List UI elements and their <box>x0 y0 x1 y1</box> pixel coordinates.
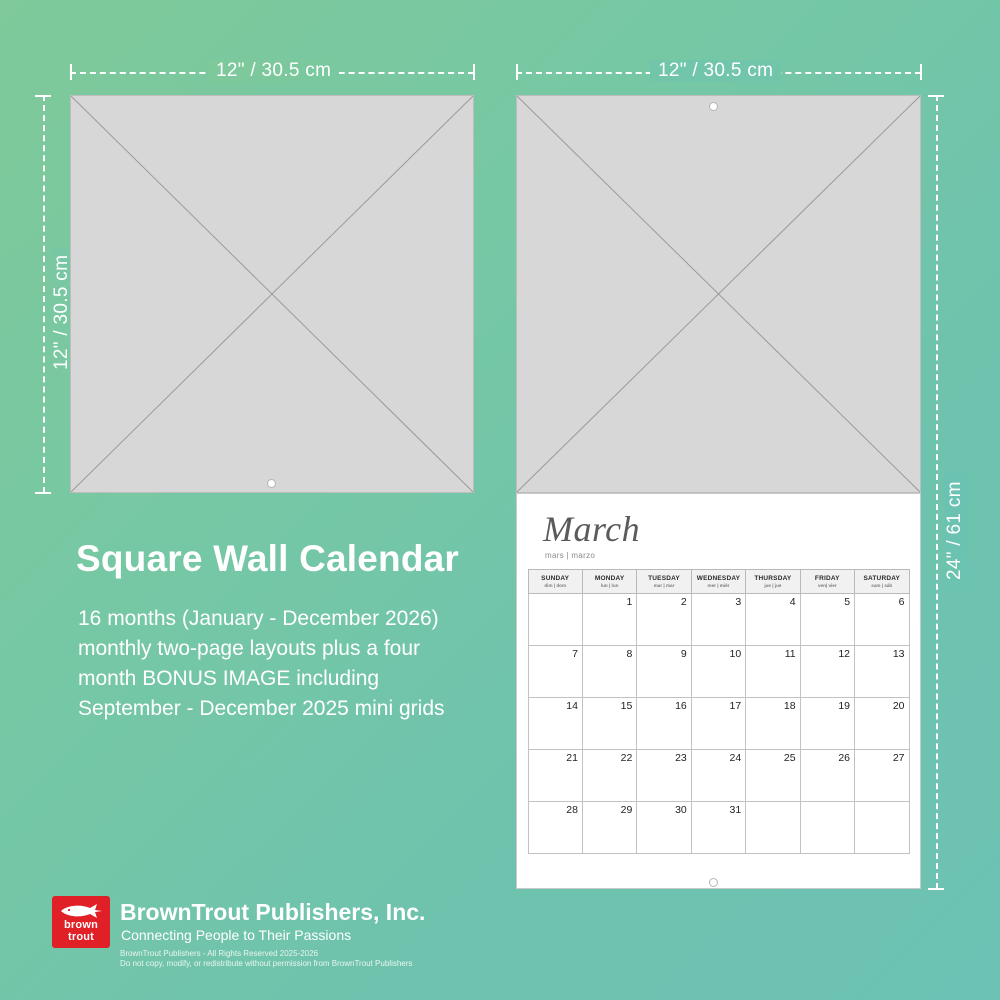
calendar-day-cell: 22 <box>582 750 636 802</box>
calendar-day-cell <box>855 802 909 854</box>
calendar-dow-wednesday: WEDNESDAY mer | miér <box>691 570 745 594</box>
calendar-day-cell: 18 <box>746 698 800 750</box>
dow-label-alt: lun | lun <box>583 583 636 588</box>
dow-label-alt: dim | dom <box>529 583 582 588</box>
browntrout-logo: brown trout <box>52 896 110 948</box>
calendar-day-cell: 12 <box>800 646 854 698</box>
calendar-week-row: 1 2 3 4 5 6 <box>528 594 909 646</box>
calendar-day-cell: 26 <box>800 750 854 802</box>
dow-label-en: FRIDAY <box>801 575 854 582</box>
calendar-day-cell: 29 <box>582 802 636 854</box>
calendar-day-cell <box>746 802 800 854</box>
description-line-2: monthly two-page layouts plus a four <box>78 634 548 664</box>
calendar-week-row: 14 15 16 17 18 19 20 <box>528 698 909 750</box>
dow-label-alt: ven| vier <box>801 583 854 588</box>
dow-label-en: WEDNESDAY <box>692 575 745 582</box>
publisher-tagline: Connecting People to Their Passions <box>121 927 351 943</box>
placeholder-cross-icon <box>517 96 920 492</box>
dow-label-alt: jue | jue <box>746 583 799 588</box>
calendar-day-cell: 9 <box>637 646 691 698</box>
calendar-table: SUNDAY dim | dom MONDAY lun | lun TUESDA… <box>528 569 910 854</box>
dow-label-alt: sam | sáb <box>855 583 908 588</box>
hanging-hole-right-page-top <box>709 102 718 111</box>
legal-line-1: BrownTrout Publishers - All Rights Reser… <box>120 949 318 959</box>
description-line-3: month BONUS IMAGE including <box>78 664 548 694</box>
hanging-hole-left-page <box>267 479 276 488</box>
dow-label-en: TUESDAY <box>637 575 690 582</box>
calendar-grid-page: March mars | marzo SUNDAY dim | dom MOND… <box>516 493 921 889</box>
hanging-hole-right-page-bottom <box>709 878 718 887</box>
dow-label-en: MONDAY <box>583 575 636 582</box>
calendar-dow-tuesday: TUESDAY mar | mar <box>637 570 691 594</box>
calendar-day-cell: 2 <box>637 594 691 646</box>
description-line-4: September - December 2025 mini grids <box>78 694 548 724</box>
calendar-day-cell: 5 <box>800 594 854 646</box>
legal-line-2: Do not copy, modify, or redistribute wit… <box>120 959 412 969</box>
calendar-day-cell: 23 <box>637 750 691 802</box>
calendar-day-cell: 3 <box>691 594 745 646</box>
calendar-dow-saturday: SATURDAY sam | sáb <box>855 570 909 594</box>
calendar-day-cell: 16 <box>637 698 691 750</box>
dow-label-alt: mar | mar <box>637 583 690 588</box>
calendar-day-cell: 19 <box>800 698 854 750</box>
product-spec-page: 12" / 30.5 cm 12" / 30.5 cm 12" / 30.5 c… <box>0 0 1000 1000</box>
calendar-day-cell: 15 <box>582 698 636 750</box>
dim-label-top-left-width: 12" / 30.5 cm <box>208 60 339 82</box>
calendar-day-cell: 31 <box>691 802 745 854</box>
page-title: Square Wall Calendar <box>76 538 459 580</box>
placeholder-cross-icon <box>71 96 473 492</box>
trout-fish-icon <box>59 904 103 918</box>
calendar-day-cell: 11 <box>746 646 800 698</box>
description-line-1: 16 months (January - December 2026) <box>78 604 548 634</box>
calendar-dow-monday: MONDAY lun | lun <box>582 570 636 594</box>
dow-label-en: THURSDAY <box>746 575 799 582</box>
calendar-image-page-left <box>70 95 474 493</box>
calendar-month-subtitle: mars | marzo <box>517 550 920 560</box>
calendar-day-cell: 4 <box>746 594 800 646</box>
calendar-day-cell: 24 <box>691 750 745 802</box>
calendar-dow-sunday: SUNDAY dim | dom <box>528 570 582 594</box>
calendar-month-title: March <box>517 494 920 550</box>
calendar-day-cell: 21 <box>528 750 582 802</box>
calendar-day-cell: 1 <box>582 594 636 646</box>
calendar-day-cell: 13 <box>855 646 909 698</box>
calendar-image-page-right <box>516 95 921 493</box>
calendar-dow-thursday: THURSDAY jue | jue <box>746 570 800 594</box>
dow-label-en: SATURDAY <box>855 575 908 582</box>
calendar-day-cell: 8 <box>582 646 636 698</box>
dim-label-top-right-width: 12" / 30.5 cm <box>650 60 781 82</box>
calendar-dow-friday: FRIDAY ven| vier <box>800 570 854 594</box>
dim-line-left-height <box>43 95 45 493</box>
publisher-name: BrownTrout Publishers, Inc. <box>120 899 425 926</box>
logo-text-brown: brown <box>52 919 110 931</box>
calendar-week-row: 21 22 23 24 25 26 27 <box>528 750 909 802</box>
calendar-day-cell: 30 <box>637 802 691 854</box>
calendar-header-row: SUNDAY dim | dom MONDAY lun | lun TUESDA… <box>528 570 909 594</box>
product-description: 16 months (January - December 2026) mont… <box>78 604 548 724</box>
calendar-day-cell: 20 <box>855 698 909 750</box>
calendar-week-row: 7 8 9 10 11 12 13 <box>528 646 909 698</box>
calendar-day-cell: 17 <box>691 698 745 750</box>
dim-line-right-height <box>936 95 938 889</box>
calendar-day-cell: 27 <box>855 750 909 802</box>
logo-text-trout: trout <box>52 931 110 943</box>
calendar-day-cell: 10 <box>691 646 745 698</box>
dim-label-right-height: 24" / 61 cm <box>944 473 966 588</box>
calendar-week-row: 28 29 30 31 <box>528 802 909 854</box>
dow-label-en: SUNDAY <box>529 575 582 582</box>
calendar-day-cell: 28 <box>528 802 582 854</box>
dow-label-alt: mer | miér <box>692 583 745 588</box>
calendar-day-cell: 6 <box>855 594 909 646</box>
calendar-day-cell <box>800 802 854 854</box>
calendar-day-cell: 25 <box>746 750 800 802</box>
